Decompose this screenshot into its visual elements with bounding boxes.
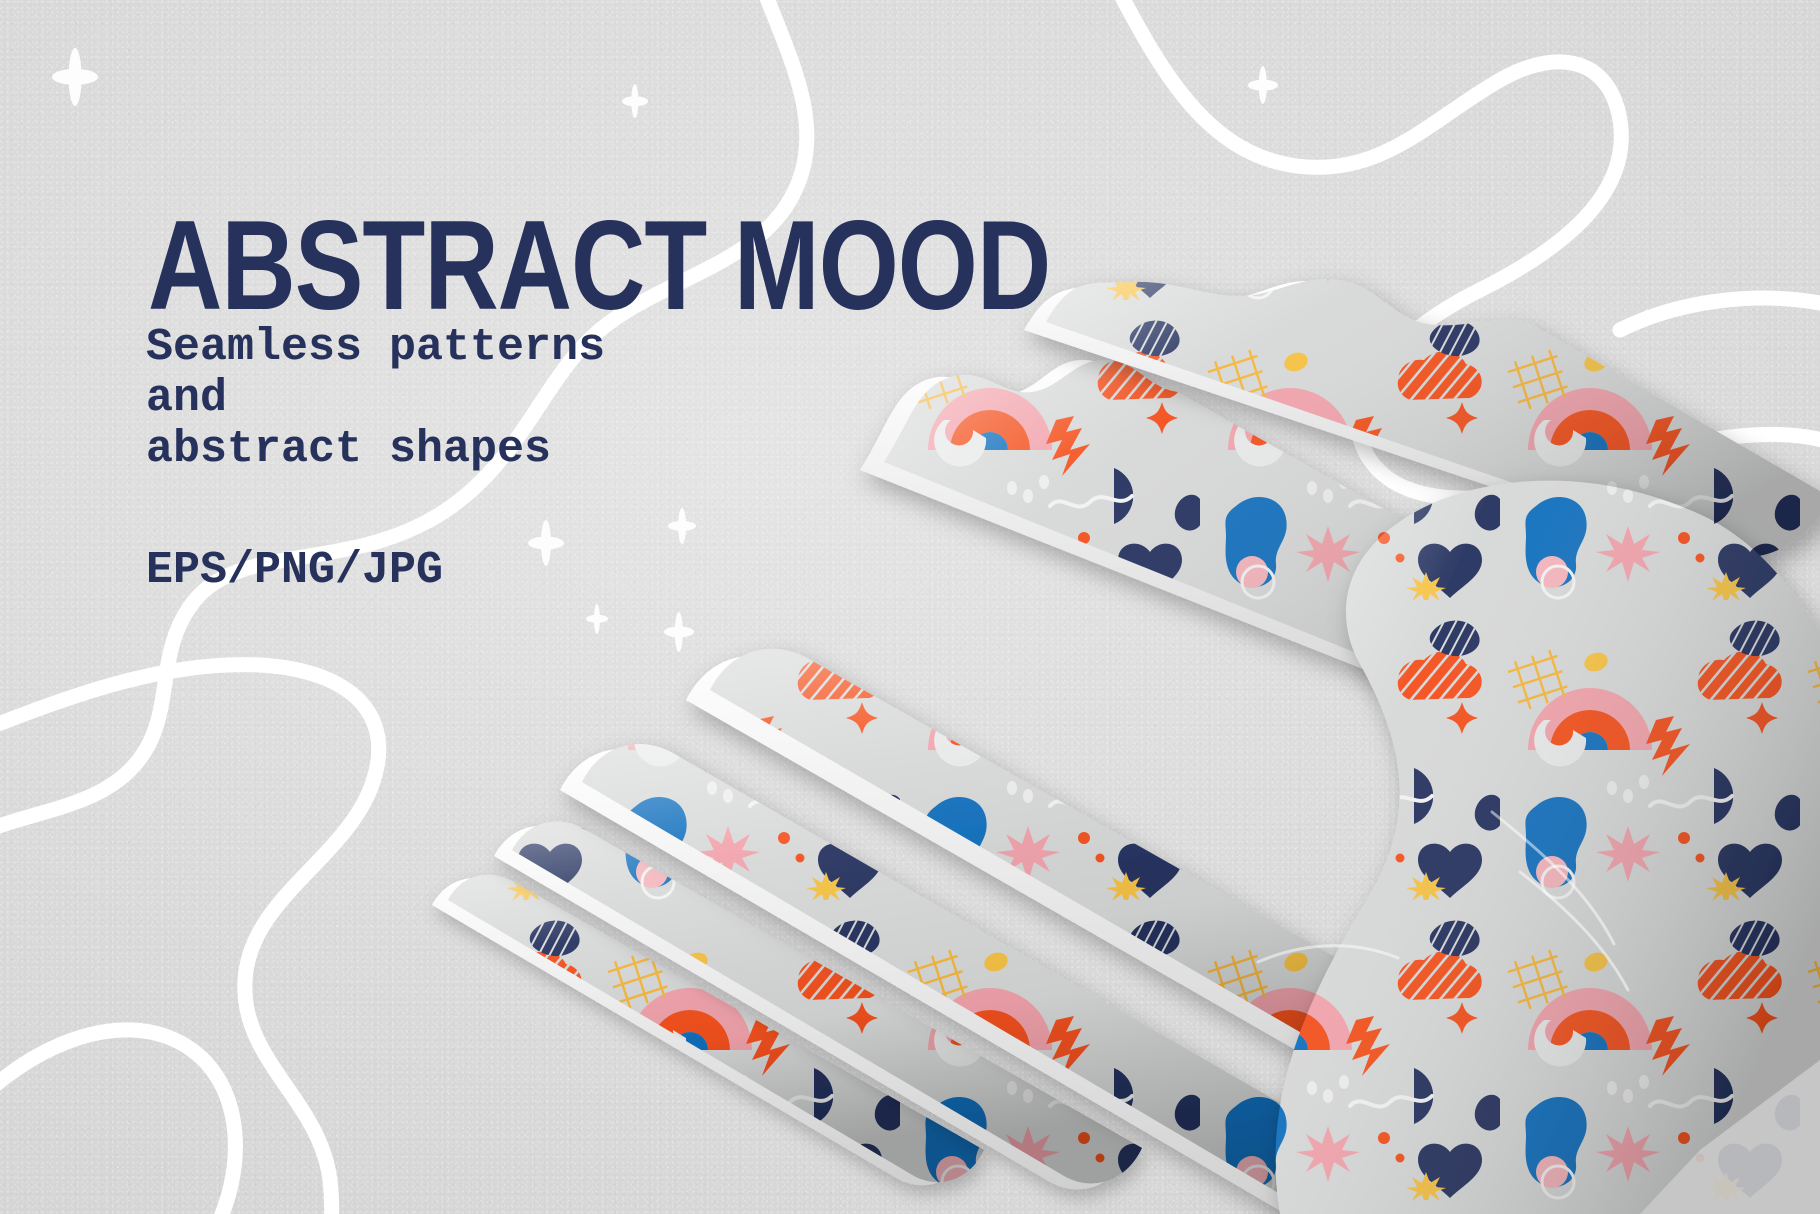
fabric-stack-mockup (0, 0, 1820, 1214)
fabric-drape-right (1276, 481, 1820, 1214)
poster-canvas: ABSTRACT MOOD Seamless patterns and abst… (0, 0, 1820, 1214)
